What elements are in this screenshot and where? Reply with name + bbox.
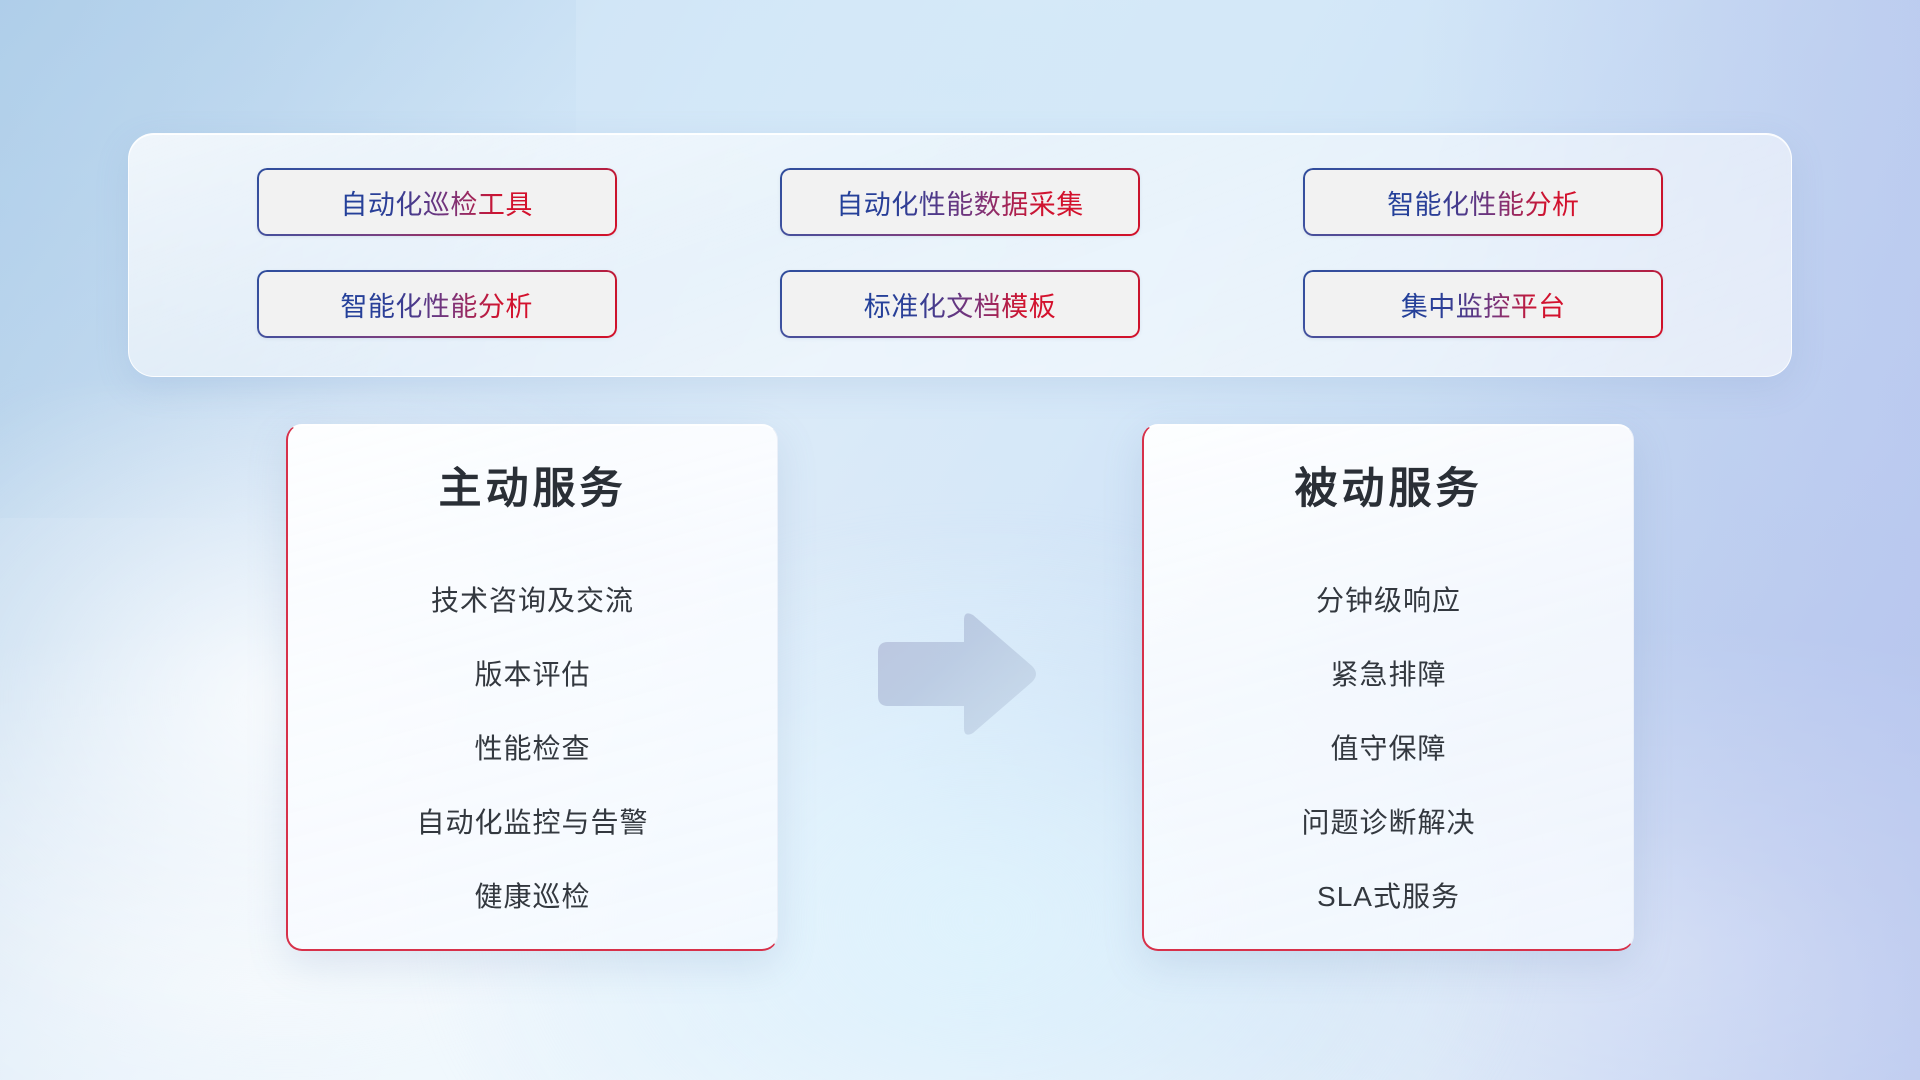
service-card-reactive: 被动服务 分钟级响应 紧急排障 值守保障 问题诊断解决 SLA式服务 bbox=[1142, 424, 1634, 951]
capability-tag-label: 集中监控平台 bbox=[1401, 285, 1566, 324]
service-list-item[interactable]: SLA式服务 bbox=[1317, 860, 1460, 934]
capability-tag-label: 智能化性能分析 bbox=[1387, 183, 1580, 222]
service-item-list: 技术咨询及交流 版本评估 性能检查 自动化监控与告警 健康巡检 bbox=[318, 564, 747, 934]
capability-tag-label: 自动化巡检工具 bbox=[340, 183, 533, 222]
service-card-proactive: 主动服务 技术咨询及交流 版本评估 性能检查 自动化监控与告警 健康巡检 bbox=[286, 424, 778, 951]
service-list-item[interactable]: 紧急排障 bbox=[1330, 638, 1446, 712]
capability-tag[interactable]: 智能化性能分析 bbox=[257, 270, 617, 338]
service-list-item[interactable]: 问题诊断解决 bbox=[1301, 786, 1475, 860]
service-list-item[interactable]: 健康巡检 bbox=[474, 860, 590, 934]
capability-tag-label: 智能化性能分析 bbox=[340, 285, 533, 324]
service-item-list: 分钟级响应 紧急排障 值守保障 问题诊断解决 SLA式服务 bbox=[1174, 564, 1603, 934]
capability-tag[interactable]: 自动化巡检工具 bbox=[257, 168, 617, 236]
service-list-item[interactable]: 自动化监控与告警 bbox=[416, 786, 648, 860]
service-list-item[interactable]: 分钟级响应 bbox=[1316, 564, 1461, 638]
capability-tag[interactable]: 标准化文档模板 bbox=[780, 270, 1140, 338]
card-title: 主动服务 bbox=[439, 465, 627, 514]
capability-tag[interactable]: 自动化性能数据采集 bbox=[780, 168, 1140, 236]
service-list-item[interactable]: 技术咨询及交流 bbox=[431, 564, 634, 638]
service-list-item[interactable]: 性能检查 bbox=[474, 712, 590, 786]
capability-tag[interactable]: 集中监控平台 bbox=[1303, 270, 1663, 338]
capability-tag-label: 自动化性能数据采集 bbox=[836, 183, 1084, 222]
capability-tag[interactable]: 智能化性能分析 bbox=[1303, 168, 1663, 236]
capability-tag-panel: 自动化巡检工具 自动化性能数据采集 智能化性能分析 智能化性能分析 标准化文档模… bbox=[128, 133, 1792, 377]
capability-tag-label: 标准化文档模板 bbox=[864, 285, 1057, 324]
service-list-item[interactable]: 值守保障 bbox=[1330, 712, 1446, 786]
flow-arrow-right-icon bbox=[872, 608, 1040, 740]
service-list-item[interactable]: 版本评估 bbox=[474, 638, 590, 712]
card-title: 被动服务 bbox=[1295, 465, 1483, 514]
